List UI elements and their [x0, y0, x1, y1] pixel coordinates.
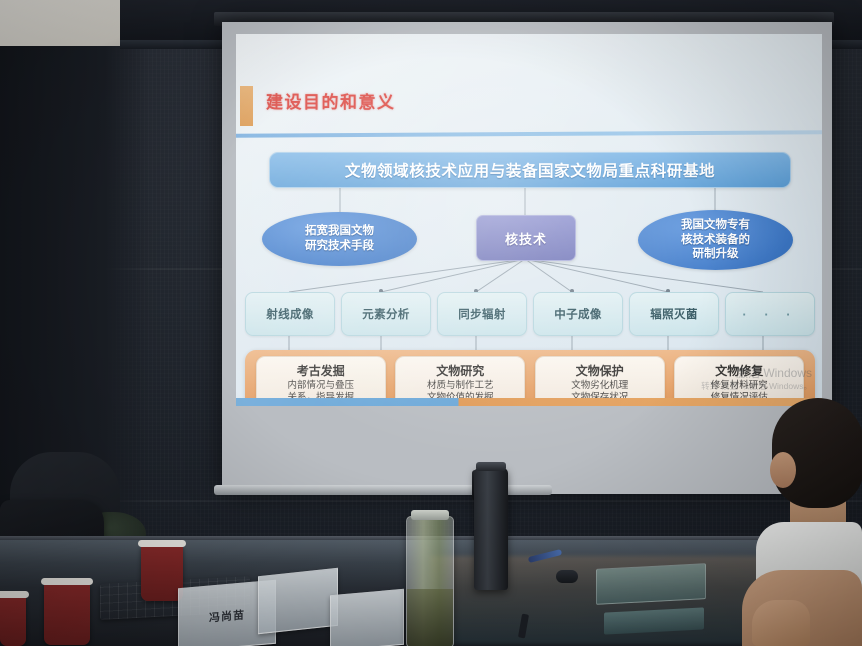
nameplate [258, 568, 338, 634]
thermos-cap [476, 462, 506, 471]
slide-banner: 文物领域核技术应用与装备国家文物局重点科研基地 [269, 152, 791, 188]
application-heading-2: 文物保护 [576, 364, 624, 379]
technique-row: 射线成像 元素分析 同步辐射 中子成像 辐照灭菌 · · · [245, 292, 815, 334]
technique-label-1: 元素分析 [362, 306, 410, 322]
core-technology-label: 核技术 [505, 229, 547, 248]
mouse [556, 570, 578, 583]
paper-coffee-cup [141, 545, 183, 601]
title-accent-bar [240, 86, 253, 126]
paper-coffee-cup [44, 583, 90, 645]
goal-ellipse-right: 我国文物专有 核技术装备的 研制升级 [638, 210, 793, 270]
conference-room-scene: 建设目的和意义 [0, 0, 862, 646]
goal-right-line3: 研制升级 [693, 248, 739, 260]
application-desc-3-line1: 修复材料研究 [711, 380, 768, 392]
technique-label-2: 同步辐射 [458, 306, 506, 322]
goal-left-line1: 拓宽我国文物 [305, 225, 374, 237]
technique-label-3: 中子成像 [554, 306, 602, 322]
slide-title: 建设目的和意义 [266, 88, 396, 113]
attendee-hand [752, 600, 810, 646]
title-divider [236, 130, 822, 138]
application-heading-3: 文物修复 [715, 364, 763, 379]
technique-box-ellipsis: · · · [725, 292, 815, 336]
technique-box-3: 中子成像 [533, 292, 623, 336]
technique-box-0: 射线成像 [245, 292, 335, 336]
technique-label-0: 射线成像 [266, 306, 314, 322]
technique-box-1: 元素分析 [341, 292, 431, 336]
application-desc-1-line1: 材质与制作工艺 [427, 380, 494, 392]
black-thermos [474, 468, 508, 590]
attendee-ear [770, 452, 796, 488]
application-heading-1: 文物研究 [436, 364, 484, 379]
nameplate-label [259, 597, 337, 605]
goal-left-line2: 研究技术手段 [305, 240, 374, 252]
notebook [596, 563, 706, 605]
technique-label-ellipsis: · · · [742, 307, 797, 322]
application-heading-0: 考古发掘 [297, 364, 345, 379]
slide-footer-bar [236, 398, 822, 406]
glass-tea-jar [406, 516, 454, 646]
jar-lid [411, 510, 449, 520]
nameplate [330, 589, 404, 646]
goal-right-line1: 我国文物专有 [681, 219, 750, 231]
application-desc-0-line1: 内部情况与叠压 [287, 380, 354, 392]
technique-box-2: 同步辐射 [437, 292, 527, 336]
technique-label-4: 辐照灭菌 [650, 306, 698, 322]
core-technology-box: 核技术 [476, 215, 576, 261]
goal-right-line2: 核技术装备的 [681, 234, 750, 246]
goal-ellipse-right-label: 我国文物专有 核技术装备的 研制升级 [681, 218, 750, 262]
technique-box-4: 辐照灭菌 [629, 292, 719, 336]
nameplate-label [331, 617, 403, 623]
goal-ellipse-left-label: 拓宽我国文物 研究技术手段 [305, 224, 374, 253]
projected-slide: 建设目的和意义 [236, 34, 822, 406]
paper-coffee-cup [0, 596, 26, 646]
application-desc-2-line1: 文物劣化机理 [571, 380, 628, 392]
tea-leaves [407, 589, 453, 646]
goal-ellipse-left: 拓宽我国文物 研究技术手段 [262, 212, 417, 266]
slide-banner-label: 文物领域核技术应用与装备国家文物局重点科研基地 [345, 159, 715, 181]
